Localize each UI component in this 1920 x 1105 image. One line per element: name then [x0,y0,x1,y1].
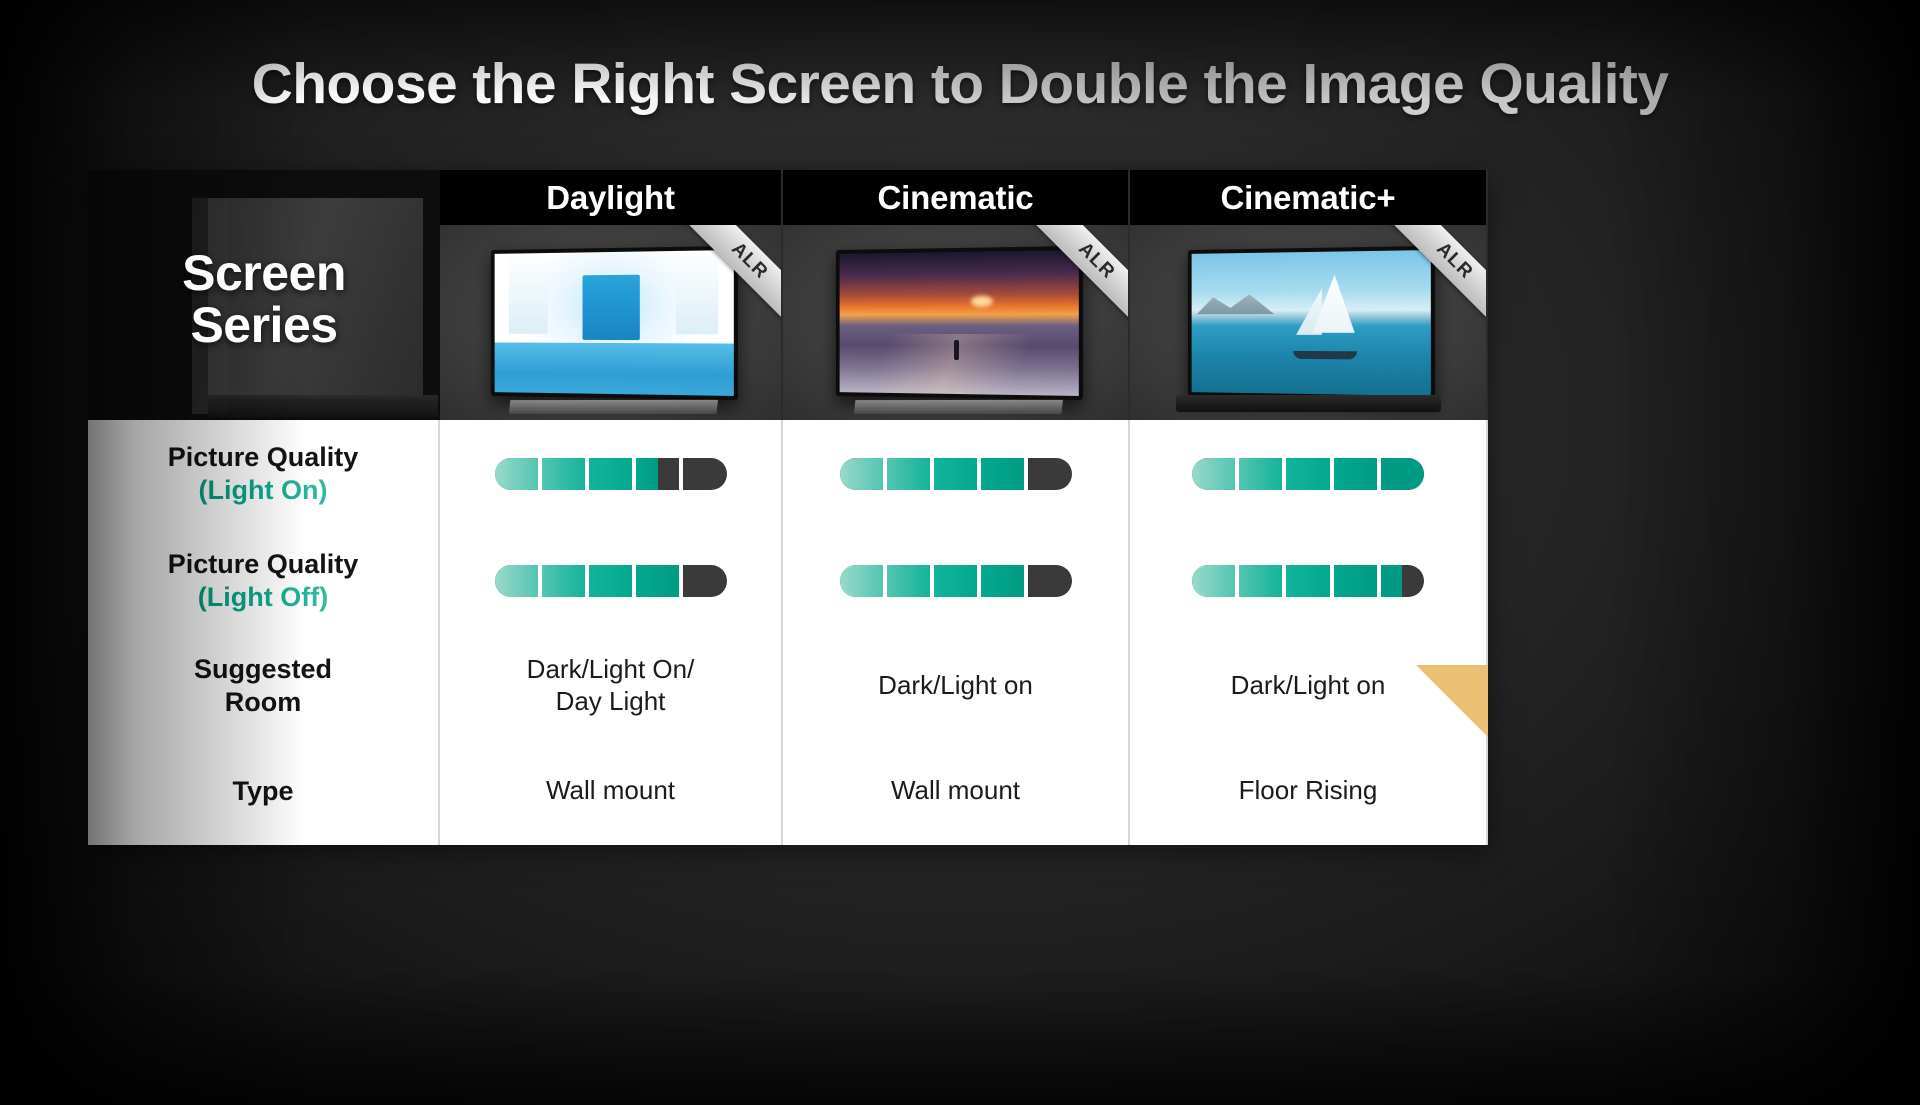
product-image-cinematic[interactable]: ALR [783,225,1130,420]
rating-segment [1239,565,1282,597]
rating-segment-fill [1286,565,1329,597]
rating-segment-fill [542,565,585,597]
cinematic-screen-illustration [831,248,1081,398]
row-label-sub-0: (Light On) [168,474,359,507]
row-label-sub-1: (Light Off) [168,581,359,614]
rating-cell-light-off-cinematicplus [1130,527,1488,634]
cinematicplus-screen-frame [1188,245,1435,399]
row-label-sub2-2: Room [225,687,302,717]
cinematic-screen-frame [835,245,1082,399]
row-label-main-3: Type [232,775,293,808]
cinematic-screen-stand [853,399,1062,413]
daylight-pool-icon [494,342,733,396]
suggested-room-cinematicplus: Dark/Light on [1130,634,1488,737]
rating-segment-fill [887,458,930,490]
rating-segment [840,565,883,597]
rating-cell-light-on-cinematicplus [1130,420,1488,527]
rating-segment-fill [981,565,1024,597]
product-image-daylight[interactable]: ALR [440,225,783,420]
row-label-picture-quality-light-off: Picture Quality (Light Off) [88,527,440,634]
rating-segment [934,458,977,490]
type-daylight: Wall mount [440,737,783,845]
rating-segment-fill [1381,565,1403,597]
rating-segment [840,458,883,490]
rating-segment-fill [840,565,883,597]
rating-segment [495,458,538,490]
rating-segment-fill [1286,458,1329,490]
rating-segment [1192,458,1235,490]
rating-segment [683,458,726,490]
rating-segment-fill [589,458,632,490]
rating-segment-fill [1334,458,1377,490]
type-cinematicplus-value: Floor Rising [1239,775,1378,807]
rating-segment-fill [1334,565,1377,597]
rating-segment [636,565,679,597]
rating-cell-light-off-cinematic [783,527,1130,634]
rating-segment-fill [1239,565,1282,597]
rating-bar [840,565,1072,597]
rating-segment [981,565,1024,597]
type-cinematic: Wall mount [783,737,1130,845]
rating-segment-fill [636,458,658,490]
rating-segment [981,458,1024,490]
rating-segment-fill [934,458,977,490]
rating-segment-fill [495,565,538,597]
daylight-center-panel-icon [582,274,639,340]
brand-title: Screen Series [182,239,346,351]
column-header-cinematic[interactable]: Cinematic [783,170,1130,225]
daylight-screen-illustration [486,248,736,398]
rating-bar [495,565,727,597]
row-label-main-0: Picture Quality [168,442,359,472]
page-title: Choose the Right Screen to Double the Im… [0,52,1920,118]
rating-bar [1192,458,1424,490]
row-label-suggested-room: Suggested Room [88,634,440,737]
column-header-daylight[interactable]: Daylight [440,170,783,225]
rating-segment-fill [934,565,977,597]
rating-segment [1028,458,1071,490]
rating-segment [589,565,632,597]
rating-segment-fill [636,565,679,597]
rating-segment-fill [1239,458,1282,490]
rating-segment [1286,458,1329,490]
rating-segment [1334,565,1377,597]
rating-segment [1286,565,1329,597]
suggested-room-daylight-value: Dark/Light On/Day Light [527,654,695,717]
rating-segment-fill [1192,565,1235,597]
daylight-screen-artwork [494,250,733,396]
column-header-daylight-label: Daylight [546,179,675,217]
suggested-room-cinematic: Dark/Light on [783,634,1130,737]
rating-segment [636,458,679,490]
rating-cell-light-off-daylight [440,527,783,634]
rating-segment-fill [589,565,632,597]
brand-title-line1: Screen [182,245,346,301]
row-label-picture-quality-light-on: Picture Quality (Light On) [88,420,440,527]
rating-segment-fill [981,458,1024,490]
rating-segment [542,565,585,597]
product-image-cinematicplus[interactable]: ALR [1130,225,1488,420]
cinematic-water-sheen [839,334,1078,396]
rating-segment [1239,458,1282,490]
brand-title-line2: Series [190,297,337,353]
rating-segment [1334,458,1377,490]
rating-bar [1192,565,1424,597]
rating-segment [683,565,726,597]
row-label-type: Type [88,737,440,845]
cinematic-sun-icon [970,295,992,306]
rating-bar [840,458,1072,490]
type-cinematicplus: Floor Rising [1130,737,1488,845]
rating-segment [1028,565,1071,597]
rating-segment [542,458,585,490]
row-label-main-1: Picture Quality [168,549,359,579]
rating-cell-light-on-cinematic [783,420,1130,527]
rating-segment-fill [1192,458,1235,490]
rating-segment-fill [840,458,883,490]
rating-segment [887,565,930,597]
row-label-main-2: Suggested [194,654,332,684]
cinematicplus-screen-artwork [1192,250,1431,396]
rating-segment [1192,565,1235,597]
rating-segment-fill [495,458,538,490]
cinematic-person-icon [953,340,958,360]
rating-segment-fill [542,458,585,490]
column-header-cinematicplus-label: Cinematic+ [1221,179,1396,217]
daylight-pillar-right-icon [676,250,718,334]
suggested-room-cinematic-value: Dark/Light on [878,670,1033,702]
rating-segment-fill [887,565,930,597]
cinematic-screen-artwork [839,250,1078,396]
cinematicplus-hull-icon [1294,351,1358,359]
type-cinematic-value: Wall mount [891,775,1020,807]
rating-segment [1381,565,1424,597]
rating-cell-light-on-daylight [440,420,783,527]
cinematicplus-screen-illustration [1183,248,1433,398]
rating-segment [887,458,930,490]
daylight-screen-stand [508,399,717,413]
rating-segment [934,565,977,597]
brand-cell: Screen Series [88,170,440,420]
daylight-pillar-left-icon [508,253,547,334]
cinematicplus-mountain-icon [1196,291,1275,314]
daylight-screen-frame [490,245,737,399]
column-header-cinematicplus[interactable]: Cinematic+ [1130,170,1488,225]
cinematicplus-floor-rising-base [1176,395,1441,412]
rating-segment [589,458,632,490]
rating-segment [1381,458,1424,490]
brand-bg-panel-base [208,395,438,417]
rating-segment [495,565,538,597]
rating-bar [495,458,727,490]
suggested-room-cinematicplus-value: Dark/Light on [1231,670,1386,702]
screen-comparison-table: Screen Series Daylight Cinematic Cinemat… [88,170,1488,845]
suggested-room-daylight: Dark/Light On/Day Light [440,634,783,737]
column-header-cinematic-label: Cinematic [878,179,1034,217]
rating-segment-fill [1381,458,1424,490]
type-daylight-value: Wall mount [546,775,675,807]
